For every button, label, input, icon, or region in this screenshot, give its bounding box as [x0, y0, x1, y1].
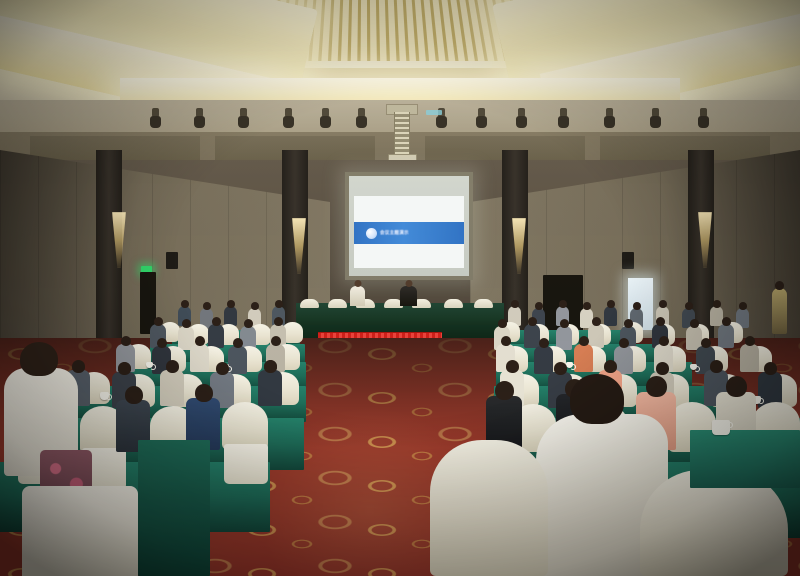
head	[182, 319, 191, 328]
attendee	[224, 306, 237, 326]
head	[498, 319, 507, 328]
head	[710, 360, 723, 373]
track-light-icon	[478, 108, 485, 117]
head	[745, 336, 755, 346]
head	[157, 338, 167, 348]
head	[125, 386, 143, 404]
head	[659, 300, 667, 308]
slide-body-area	[354, 244, 464, 268]
head	[121, 336, 131, 346]
head	[20, 342, 58, 376]
ceiling-sensor-icon	[426, 110, 442, 115]
head	[607, 300, 615, 308]
head	[511, 300, 519, 308]
track-light-icon	[240, 108, 247, 117]
head	[212, 317, 221, 326]
track-light-icon	[560, 108, 567, 117]
attendee	[208, 324, 224, 348]
head	[656, 362, 669, 375]
head	[528, 317, 537, 326]
head	[646, 376, 667, 397]
coffee-cup	[690, 364, 697, 370]
track-light-icon	[606, 108, 613, 117]
cove-light-center	[120, 78, 680, 100]
head	[72, 360, 85, 373]
head	[271, 336, 281, 346]
head	[275, 300, 283, 308]
track-light-icon	[196, 108, 203, 117]
head	[501, 336, 511, 346]
chair-skirt	[224, 444, 268, 484]
head	[405, 280, 412, 287]
head	[656, 317, 665, 326]
head	[535, 302, 543, 310]
attendee	[574, 344, 593, 372]
head-table-chair	[328, 299, 347, 308]
head	[181, 300, 189, 308]
attendee	[718, 324, 734, 348]
track-light-icon	[285, 108, 292, 117]
track-light-icon	[152, 108, 159, 117]
head	[604, 360, 617, 373]
attendee	[588, 324, 604, 348]
head	[775, 281, 784, 290]
attendee	[534, 346, 553, 374]
head	[251, 302, 259, 310]
head	[195, 336, 205, 346]
head	[701, 338, 711, 348]
attendee	[710, 306, 723, 326]
slide-title-band: 会议主题演示	[354, 222, 464, 244]
head-table-chair	[444, 299, 463, 308]
head	[154, 317, 163, 326]
banquet-chair	[430, 440, 548, 576]
head	[559, 300, 567, 308]
attendee	[740, 344, 759, 372]
head	[203, 302, 211, 310]
track-light-icon	[700, 108, 707, 117]
head	[554, 362, 567, 375]
head	[624, 319, 633, 328]
wall-speaker-right	[622, 252, 634, 269]
projected-slide: 会议主题演示	[354, 196, 464, 268]
head	[495, 381, 514, 400]
head	[685, 302, 693, 310]
head	[264, 360, 277, 373]
conference-hall-photo: 会议主题演示	[0, 0, 800, 576]
head	[659, 336, 669, 346]
head	[539, 338, 549, 348]
track-light-icon	[322, 108, 329, 117]
head-table-chair	[300, 299, 319, 308]
track-light-icon	[518, 108, 525, 117]
head	[592, 317, 601, 326]
head-table-chair	[474, 299, 493, 308]
presenter-right	[400, 286, 417, 306]
head	[233, 338, 243, 348]
head	[619, 338, 629, 348]
attendee	[604, 306, 617, 326]
head	[713, 300, 721, 308]
head	[195, 384, 213, 402]
attendee	[258, 370, 282, 406]
head	[633, 302, 641, 310]
head	[227, 300, 235, 308]
presenter-left	[350, 286, 365, 306]
head	[560, 319, 569, 328]
head	[690, 319, 699, 328]
head	[166, 360, 179, 373]
head	[354, 280, 361, 287]
delegate-table	[138, 440, 210, 576]
head	[764, 362, 777, 375]
coffee-cup	[100, 392, 109, 400]
head	[506, 360, 519, 373]
coffee-cup	[712, 420, 730, 435]
delegate-table	[690, 430, 800, 488]
head	[722, 317, 731, 326]
attendee	[524, 324, 540, 348]
chair-skirt	[22, 486, 138, 576]
head	[118, 362, 131, 375]
head	[244, 319, 253, 328]
head	[274, 317, 283, 326]
attendee	[190, 344, 209, 372]
head	[570, 374, 624, 424]
track-light-icon	[652, 108, 659, 117]
head	[739, 302, 747, 310]
head	[583, 302, 591, 310]
banquet-chair	[222, 402, 268, 450]
wall-speaker-left	[166, 252, 178, 269]
slide-logo-icon	[366, 228, 377, 239]
head	[216, 362, 229, 375]
track-light-icon	[358, 108, 365, 117]
head	[579, 336, 589, 346]
coffee-cup	[566, 362, 573, 368]
slide-title-text: 会议主题演示	[380, 230, 409, 236]
slide-top-area	[354, 196, 464, 222]
projector-scissor-lift	[394, 112, 410, 156]
head	[726, 376, 747, 397]
attendee	[160, 370, 184, 406]
coffee-cup	[146, 362, 153, 368]
standing-attendee	[772, 288, 787, 334]
